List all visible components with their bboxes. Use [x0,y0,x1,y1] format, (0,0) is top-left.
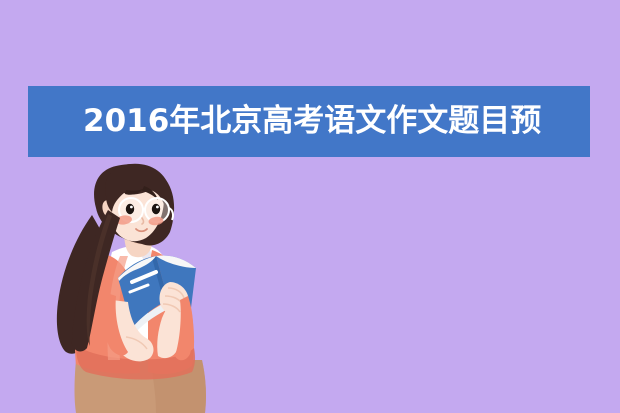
right-eye-highlight [156,206,159,209]
left-eye [126,204,134,214]
title-bar: 2016年北京高考语文作文题目预 [28,86,590,157]
right-eye [152,204,160,214]
article-banner-image: 2016年北京高考语文作文题目预 [0,0,620,413]
woman-reading-book-illustration [0,0,620,413]
banner-title-text: 2016年北京高考语文作文题目预 [28,86,541,157]
left-eye-highlight [130,206,133,209]
